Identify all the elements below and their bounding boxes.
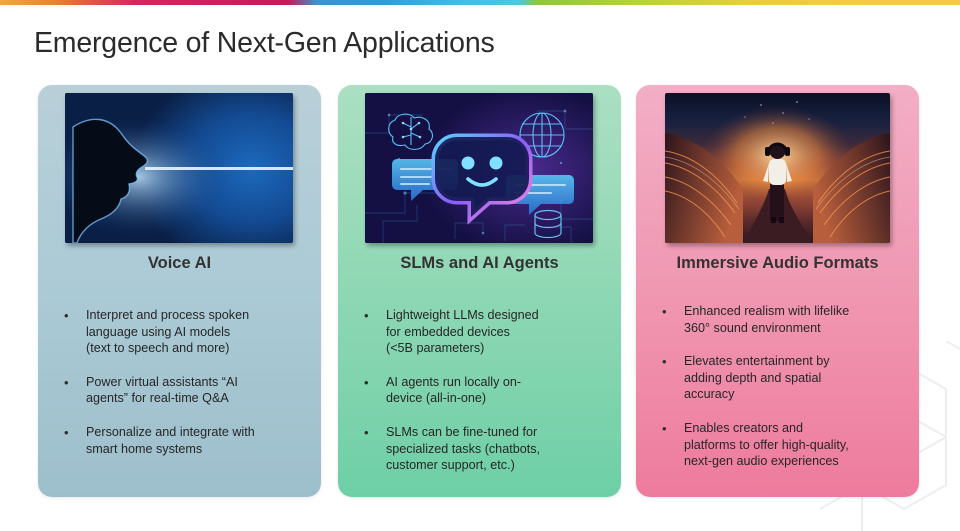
bullet-glyph: • bbox=[64, 374, 86, 407]
thumbnail-immersive-audio bbox=[665, 93, 890, 243]
chatbot-scene-art bbox=[365, 93, 593, 243]
list-item: • Elevates entertainment by adding depth… bbox=[662, 353, 907, 403]
bullet-text: Lightweight LLMs designed for embedded d… bbox=[386, 307, 539, 357]
bullet-text: Interpret and process spoken language us… bbox=[86, 307, 249, 357]
thumbnail-slm-agents bbox=[365, 93, 593, 243]
slm-agents-illustration bbox=[365, 93, 593, 243]
card-immersive-audio[interactable]: Immersive Audio Formats • Enhanced reali… bbox=[636, 85, 919, 497]
bullet-glyph: • bbox=[662, 303, 684, 336]
bullet-text: Power virtual assistants “AI agents” for… bbox=[86, 374, 238, 407]
card-heading-voice-ai: Voice AI bbox=[38, 253, 321, 274]
card-heading-immersive-audio: Immersive Audio Formats bbox=[636, 253, 919, 274]
list-item: • AI agents run locally on- device (all-… bbox=[364, 374, 609, 407]
headphones-canyon-art bbox=[665, 93, 890, 243]
list-item: • Enables creators and platforms to offe… bbox=[662, 420, 907, 470]
bullet-text: Enables creators and platforms to offer … bbox=[684, 420, 849, 470]
bullet-list-voice-ai: • Interpret and process spoken language … bbox=[64, 307, 309, 474]
bullet-text: AI agents run locally on- device (all-in… bbox=[386, 374, 521, 407]
card-heading-slm-agents: SLMs and AI Agents bbox=[338, 253, 621, 274]
bullet-glyph: • bbox=[364, 374, 386, 407]
voice-waveform-art bbox=[65, 93, 293, 243]
bullet-glyph: • bbox=[662, 420, 684, 470]
list-item: • SLMs can be fine-tuned for specialized… bbox=[364, 424, 609, 474]
bullet-text: Enhanced realism with lifelike 360° soun… bbox=[684, 303, 849, 336]
bullet-list-slm-agents: • Lightweight LLMs designed for embedded… bbox=[364, 307, 609, 491]
bullet-glyph: • bbox=[64, 424, 86, 457]
accent-gradient-bar bbox=[0, 0, 960, 5]
bullet-glyph: • bbox=[364, 424, 386, 474]
list-item: • Personalize and integrate with smart h… bbox=[64, 424, 309, 457]
bullet-glyph: • bbox=[64, 307, 86, 357]
bullet-text: Personalize and integrate with smart hom… bbox=[86, 424, 255, 457]
list-item: • Power virtual assistants “AI agents” f… bbox=[64, 374, 309, 407]
list-item: • Lightweight LLMs designed for embedded… bbox=[364, 307, 609, 357]
bullet-glyph: • bbox=[662, 353, 684, 403]
bullet-text: Elevates entertainment by adding depth a… bbox=[684, 353, 830, 403]
bullet-list-immersive-audio: • Enhanced realism with lifelike 360° so… bbox=[662, 303, 907, 487]
page-title: Emergence of Next-Gen Applications bbox=[34, 27, 495, 60]
card-slm-agents[interactable]: SLMs and AI Agents • Lightweight LLMs de… bbox=[338, 85, 621, 497]
bullet-text: SLMs can be fine-tuned for specialized t… bbox=[386, 424, 540, 474]
list-item: • Interpret and process spoken language … bbox=[64, 307, 309, 357]
list-item: • Enhanced realism with lifelike 360° so… bbox=[662, 303, 907, 336]
bullet-glyph: • bbox=[364, 307, 386, 357]
card-voice-ai[interactable]: Voice AI • Interpret and process spoken … bbox=[38, 85, 321, 497]
immersive-audio-illustration bbox=[665, 93, 890, 243]
voice-ai-illustration bbox=[65, 93, 293, 243]
thumbnail-voice-ai bbox=[65, 93, 293, 243]
